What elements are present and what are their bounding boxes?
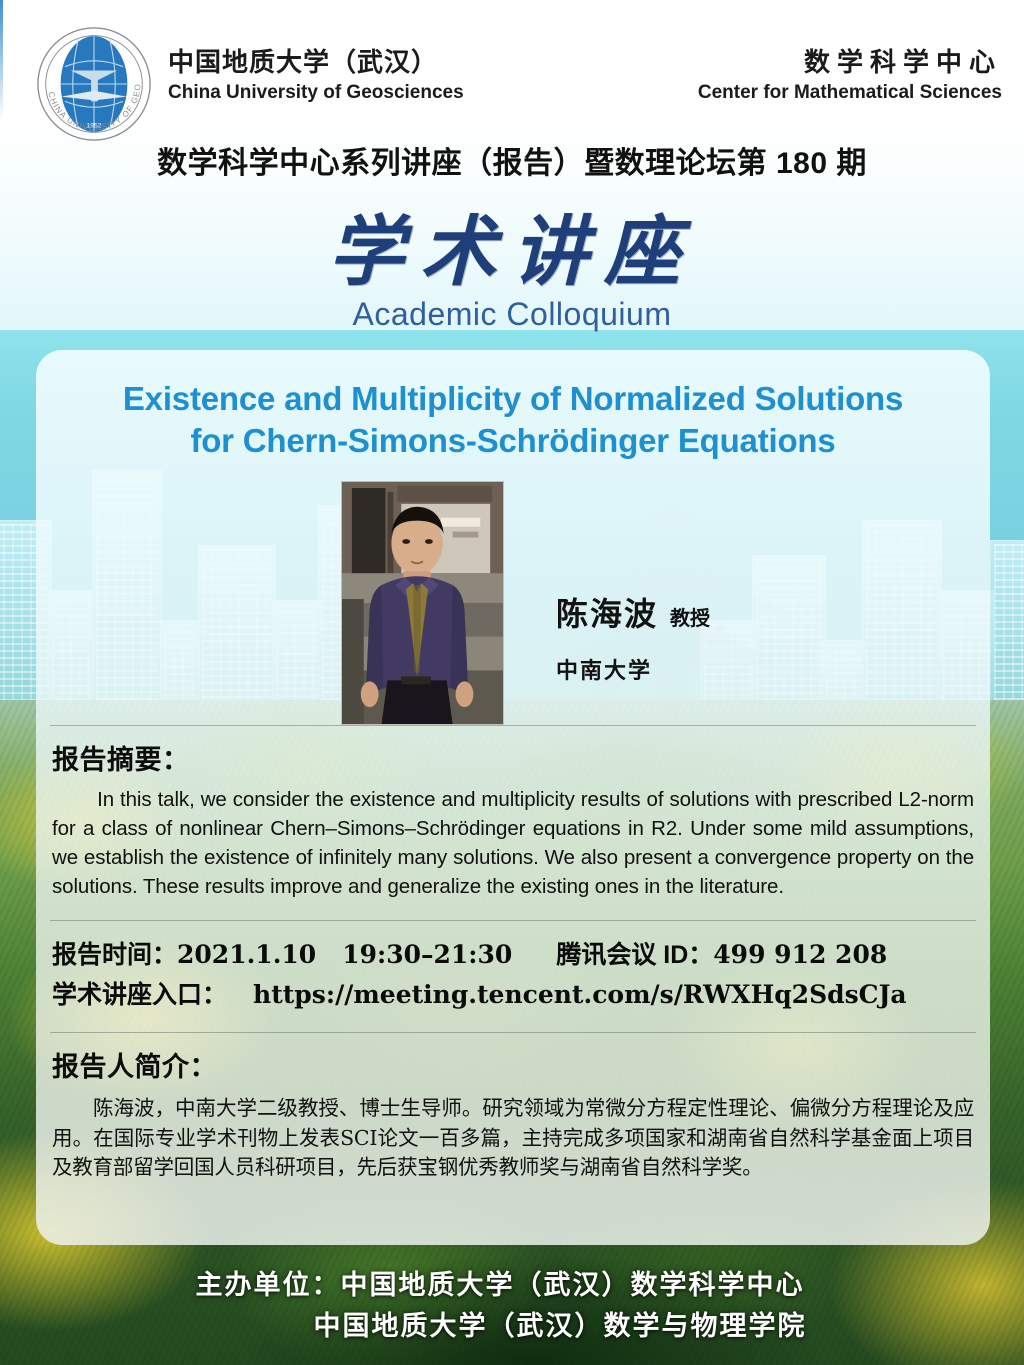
org-left-name-en: China University of Geosciences: [168, 82, 464, 104]
meeting-time-range: 19:30–21:30: [342, 940, 512, 969]
speaker-row: 陈海波教授 中南大学: [36, 473, 990, 725]
speaker-photo: [341, 481, 504, 725]
speaker-affiliation: 中南大学: [556, 653, 710, 685]
bio-body: 陈海波，中南大学二级教授、博士生导师。研究领域为常微分方程定性理论、偏微分方程理…: [52, 1094, 974, 1184]
org-left-name-cn: 中国地质大学（武汉）: [168, 48, 464, 78]
speaker-name: 陈海波: [556, 589, 658, 635]
meeting-section: 报告时间：2021.1.1019:30–21:30腾讯会议 ID：499 912…: [36, 921, 990, 1022]
meeting-time-line: 报告时间：2021.1.1019:30–21:30腾讯会议 ID：499 912…: [52, 935, 974, 976]
meeting-id-value: 499 912 208: [713, 940, 887, 969]
meeting-time-label: 报告时间：: [52, 941, 177, 969]
content-card: Existence and Multiplicity of Normalized…: [36, 350, 990, 1245]
talk-title: Existence and Multiplicity of Normalized…: [66, 378, 960, 461]
cug-logo: 1952 CHINA UNIVERSITY OF GEOSCIENCES: [36, 26, 152, 142]
bio-section: 报告人简介： 陈海波，中南大学二级教授、博士生导师。研究领域为常微分方程定性理论…: [36, 1033, 990, 1184]
meeting-id-label: 腾讯会议 ID：: [556, 941, 713, 969]
hero-title-cn: 学术讲座: [0, 190, 1024, 300]
poster-root: 1952 CHINA UNIVERSITY OF GEOSCIENCES 中国地…: [0, 0, 1024, 1365]
poster-header: 1952 CHINA UNIVERSITY OF GEOSCIENCES 中国地…: [0, 0, 1024, 120]
speaker-title: 教授: [670, 602, 710, 631]
meeting-entry-url[interactable]: https://meeting.tencent.com/s/RWXHq2SdsC…: [253, 980, 907, 1009]
meeting-entry-line: 学术讲座入口：https://meeting.tencent.com/s/RWX…: [52, 975, 974, 1016]
abstract-section: 报告摘要： In this talk, we consider the exis…: [36, 726, 990, 901]
bio-heading: 报告人简介：: [52, 1045, 974, 1084]
hero-title-en: Academic Colloquium: [0, 296, 1024, 333]
org-right-name-en: Center for Mathematical Sciences: [698, 82, 1002, 104]
org-right-name-cn: 数学科学中心: [698, 48, 1002, 78]
footer-organizer-line-2: 中国地质大学（武汉）数学与物理学院: [0, 1306, 1000, 1347]
speaker-info: 陈海波教授 中南大学: [556, 589, 710, 685]
series-line: 数学科学中心系列讲座（报告）暨数理论坛第 180 期: [0, 138, 1024, 182]
abstract-heading: 报告摘要：: [52, 738, 974, 777]
abstract-body: In this talk, we consider the existence …: [52, 785, 974, 901]
meeting-entry-label: 学术讲座入口：: [52, 981, 227, 1009]
footer-organizer-line-1: 主办单位：中国地质大学（武汉）数学科学中心: [0, 1265, 1000, 1306]
org-left: 中国地质大学（武汉） China University of Geoscienc…: [168, 48, 464, 104]
poster-footer: 主办单位：中国地质大学（武汉）数学科学中心 中国地质大学（武汉）数学与物理学院: [0, 1265, 1024, 1347]
talk-title-line1: Existence and Multiplicity of Normalized…: [66, 378, 960, 420]
org-right: 数学科学中心 Center for Mathematical Sciences: [698, 48, 1002, 104]
meeting-date: 2021.1.10: [177, 940, 316, 969]
talk-title-line2: for Chern-Simons-Schrödinger Equations: [66, 420, 960, 462]
